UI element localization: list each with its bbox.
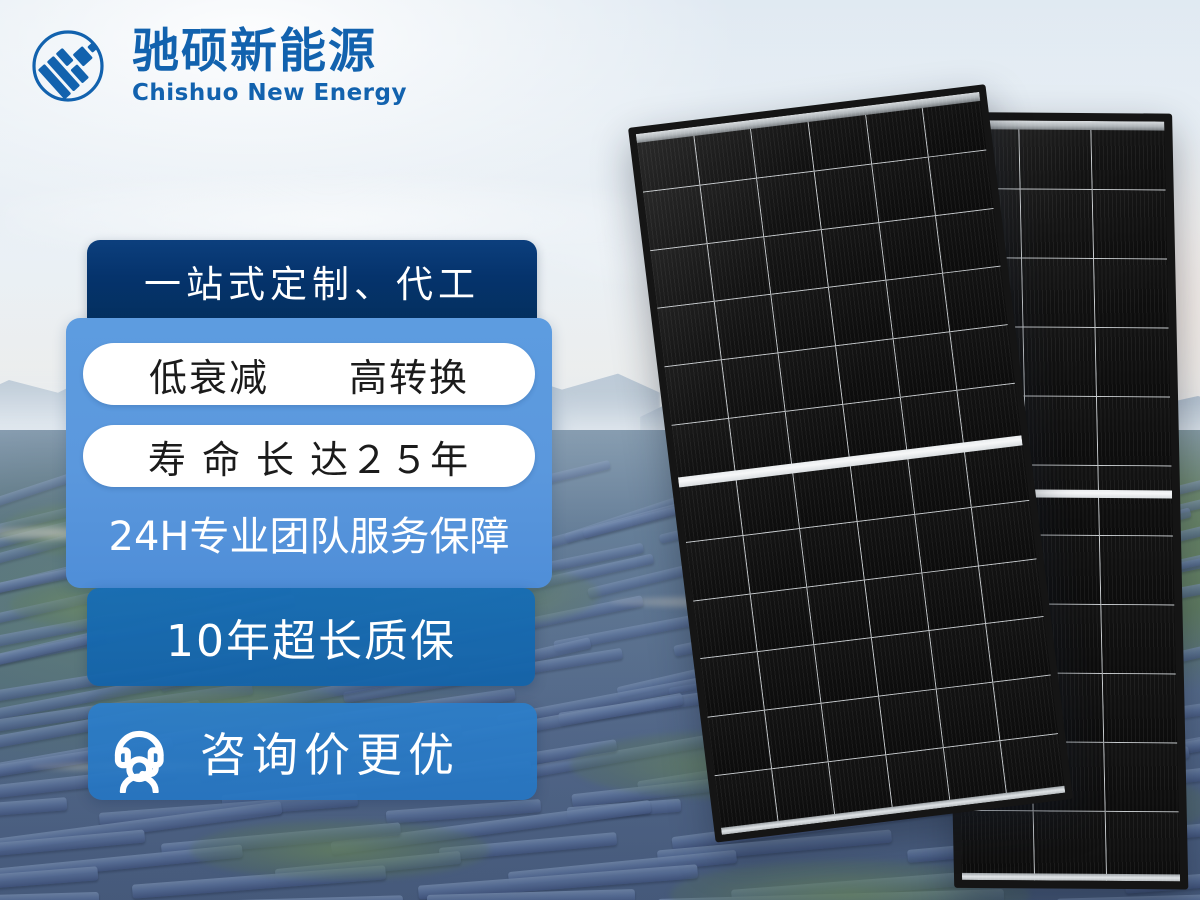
brand-logo[interactable]: 驰硕新能源 Chishuo New Energy	[22, 16, 407, 116]
badge-one-stop-custom[interactable]: 一站式定制、代工	[87, 240, 537, 322]
headset-customer-service-icon	[104, 711, 186, 793]
badge-24h-service[interactable]: 24H专业团队服务保障	[66, 502, 552, 564]
badge-warranty[interactable]: 10年超长质保	[87, 588, 535, 686]
badge-warranty-label: 10年超长质保	[166, 605, 456, 669]
chishuo-circular-logo-icon	[22, 16, 122, 116]
badge-consult-price-label: 咨询价更优	[200, 719, 460, 785]
badge-lifespan[interactable]: 寿 命 长 达２５年	[83, 425, 535, 487]
badge-24h-service-label: 24H专业团队服务保障	[109, 504, 510, 562]
poster-canvas: 驰硕新能源 Chishuo New Energy 一站式定制、代工 低衰减 高转…	[0, 0, 1200, 900]
brand-name-en: Chishuo New Energy	[132, 82, 407, 105]
badge-lifespan-label: 寿 命 长 达２５年	[148, 429, 470, 484]
brand-name-cn: 驰硕新能源	[132, 28, 407, 75]
feature-panel: 低衰减 高转换 寿 命 长 达２５年 24H专业团队服务保障	[66, 318, 552, 588]
badge-one-stop-custom-label: 一站式定制、代工	[144, 254, 480, 308]
badge-low-decay-label: 低衰减 高转换	[149, 347, 469, 402]
badge-consult-price[interactable]: 咨询价更优	[88, 703, 537, 800]
badge-low-decay-high-conversion[interactable]: 低衰减 高转换	[83, 343, 535, 405]
